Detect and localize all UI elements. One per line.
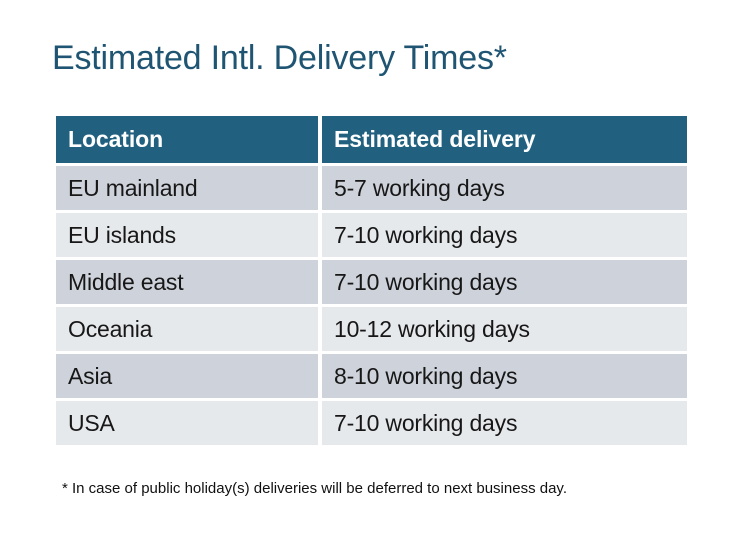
cell-delivery: 7-10 working days xyxy=(322,260,687,304)
table-header-row: Location Estimated delivery xyxy=(56,116,687,163)
cell-location: USA xyxy=(56,401,318,445)
table-row: Middle east 7-10 working days xyxy=(56,260,687,304)
cell-delivery: 10-12 working days xyxy=(322,307,687,351)
table-body: EU mainland 5-7 working days EU islands … xyxy=(56,166,687,445)
table-row: Oceania 10-12 working days xyxy=(56,307,687,351)
table-row: USA 7-10 working days xyxy=(56,401,687,445)
cell-location: EU islands xyxy=(56,213,318,257)
delivery-times-page: Estimated Intl. Delivery Times* Location… xyxy=(0,0,745,536)
cell-location: EU mainland xyxy=(56,166,318,210)
page-title: Estimated Intl. Delivery Times* xyxy=(52,36,507,80)
cell-delivery: 8-10 working days xyxy=(322,354,687,398)
footnote-text: * In case of public holiday(s) deliverie… xyxy=(62,479,567,499)
column-header-estimated-delivery: Estimated delivery xyxy=(322,116,687,163)
cell-location: Oceania xyxy=(56,307,318,351)
cell-location: Middle east xyxy=(56,260,318,304)
column-header-location: Location xyxy=(56,116,318,163)
cell-delivery: 5-7 working days xyxy=(322,166,687,210)
delivery-times-table: Location Estimated delivery EU mainland … xyxy=(52,113,691,448)
cell-delivery: 7-10 working days xyxy=(322,401,687,445)
cell-location: Asia xyxy=(56,354,318,398)
table-header: Location Estimated delivery xyxy=(56,116,687,163)
cell-delivery: 7-10 working days xyxy=(322,213,687,257)
table-row: EU mainland 5-7 working days xyxy=(56,166,687,210)
table-row: EU islands 7-10 working days xyxy=(56,213,687,257)
table-row: Asia 8-10 working days xyxy=(56,354,687,398)
